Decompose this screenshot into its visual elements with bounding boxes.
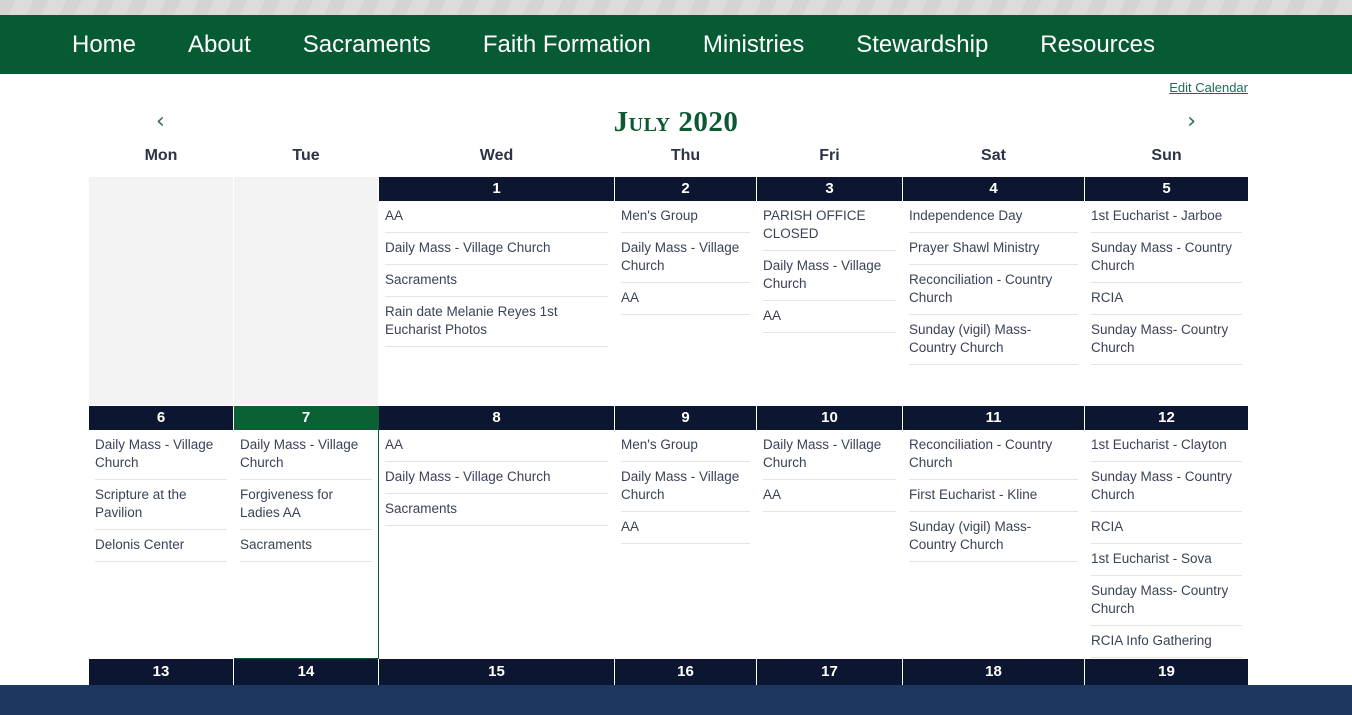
day-number: 17 <box>757 659 902 685</box>
calendar-event[interactable]: Sunday Mass- Country Church <box>1091 315 1242 365</box>
calendar-week-row: 1AADaily Mass - Village ChurchSacraments… <box>89 177 1249 406</box>
calendar-event[interactable]: Daily Mass - Village Church <box>240 430 372 480</box>
day-cell[interactable]: 4Independence DayPrayer Shawl MinistryRe… <box>903 177 1085 406</box>
day-cell[interactable]: 9Men's GroupDaily Mass - Village ChurchA… <box>615 406 757 659</box>
calendar-event[interactable]: Reconciliation - Country Church <box>909 265 1078 315</box>
calendar-event[interactable]: Sunday Mass- Country Church <box>1091 576 1242 626</box>
day-cell[interactable]: 16 <box>615 659 757 686</box>
day-cell-empty <box>234 177 379 406</box>
day-number: 6 <box>89 406 233 430</box>
next-month-icon[interactable]: › <box>1187 100 1196 144</box>
calendar-event[interactable]: 1st Eucharist - Clayton <box>1091 430 1242 462</box>
weekday-header-sat: Sat <box>903 144 1085 177</box>
calendar-event[interactable]: Daily Mass - Village Church <box>763 430 896 480</box>
calendar-event[interactable]: AA <box>385 201 608 233</box>
day-number: 10 <box>757 406 902 430</box>
day-number: 9 <box>615 406 756 430</box>
weekday-header-tue: Tue <box>234 144 379 177</box>
weekday-header-row: MonTueWedThuFriSatSun <box>89 144 1249 177</box>
edit-calendar-row: Edit Calendar <box>0 74 1352 100</box>
day-cell[interactable]: 2Men's GroupDaily Mass - Village ChurchA… <box>615 177 757 406</box>
day-number: 15 <box>379 659 614 685</box>
day-number: 2 <box>615 177 756 201</box>
calendar-title-bar: ‹ July 2020 › <box>88 100 1264 144</box>
calendar-month-title: July 2020 <box>88 100 1264 144</box>
day-events-list: Men's GroupDaily Mass - Village ChurchAA <box>615 430 756 544</box>
day-events-list: Reconciliation - Country ChurchFirst Euc… <box>903 430 1084 562</box>
calendar-event[interactable]: Scripture at the Pavilion <box>95 480 227 530</box>
day-cell[interactable]: 10Daily Mass - Village ChurchAA <box>757 406 903 659</box>
day-cell[interactable]: 51st Eucharist - JarboeSunday Mass - Cou… <box>1085 177 1249 406</box>
day-cell[interactable]: 1AADaily Mass - Village ChurchSacraments… <box>379 177 615 406</box>
day-number: 16 <box>615 659 756 685</box>
calendar-event[interactable]: Rain date Melanie Reyes 1st Eucharist Ph… <box>385 297 608 347</box>
page-footer <box>0 685 1352 715</box>
nav-item-home[interactable]: Home <box>72 33 136 57</box>
day-number: 1 <box>379 177 614 201</box>
day-cell[interactable]: 17 <box>757 659 903 686</box>
day-number: 5 <box>1085 177 1248 201</box>
day-number: 14 <box>234 659 378 685</box>
nav-item-faith-formation[interactable]: Faith Formation <box>483 33 651 57</box>
day-events-list: 1st Eucharist - JarboeSunday Mass - Coun… <box>1085 201 1248 365</box>
calendar-event[interactable]: AA <box>385 430 608 462</box>
calendar-event[interactable]: Sunday Mass - Country Church <box>1091 233 1242 283</box>
calendar-event[interactable]: Daily Mass - Village Church <box>763 251 896 301</box>
calendar-event[interactable]: Sunday Mass - Country Church <box>1091 462 1242 512</box>
calendar-event[interactable]: Daily Mass - Village Church <box>95 430 227 480</box>
day-events-list: AADaily Mass - Village ChurchSacramentsR… <box>379 201 614 347</box>
calendar-event[interactable]: Independence Day <box>909 201 1078 233</box>
previous-month-icon[interactable]: ‹ <box>156 100 165 144</box>
calendar-event[interactable]: Daily Mass - Village Church <box>621 233 750 283</box>
day-events-list: 1st Eucharist - ClaytonSunday Mass - Cou… <box>1085 430 1248 658</box>
calendar-event[interactable]: Sacraments <box>240 530 372 562</box>
nav-item-about[interactable]: About <box>188 33 251 57</box>
day-events-list: AADaily Mass - Village ChurchSacraments <box>379 430 614 526</box>
day-cell[interactable]: 13 <box>89 659 234 686</box>
calendar-event[interactable]: First Eucharist - Kline <box>909 480 1078 512</box>
main-navigation: HomeAboutSacramentsFaith FormationMinist… <box>0 15 1352 74</box>
calendar-event[interactable]: AA <box>621 283 750 315</box>
calendar-event[interactable]: Men's Group <box>621 430 750 462</box>
day-number: 18 <box>903 659 1084 685</box>
day-cell[interactable]: 14 <box>234 659 379 686</box>
weekday-header-sun: Sun <box>1085 144 1249 177</box>
calendar-event[interactable]: PARISH OFFICE CLOSED <box>763 201 896 251</box>
day-number: 12 <box>1085 406 1248 430</box>
day-cell[interactable]: 11Reconciliation - Country ChurchFirst E… <box>903 406 1085 659</box>
nav-item-resources[interactable]: Resources <box>1040 33 1155 57</box>
day-number: 11 <box>903 406 1084 430</box>
calendar-event[interactable]: RCIA <box>1091 283 1242 315</box>
day-events-list: PARISH OFFICE CLOSEDDaily Mass - Village… <box>757 201 902 333</box>
nav-item-ministries[interactable]: Ministries <box>703 33 804 57</box>
day-number: 7 <box>234 406 378 430</box>
calendar-event[interactable]: RCIA <box>1091 512 1242 544</box>
calendar-event[interactable]: Daily Mass - Village Church <box>621 462 750 512</box>
calendar-event[interactable]: 1st Eucharist - Jarboe <box>1091 201 1242 233</box>
edit-calendar-link[interactable]: Edit Calendar <box>1169 80 1248 95</box>
nav-item-stewardship[interactable]: Stewardship <box>856 33 988 57</box>
day-events-list: Daily Mass - Village ChurchForgiveness f… <box>234 430 378 562</box>
day-number: 19 <box>1085 659 1248 685</box>
day-cell[interactable]: 18 <box>903 659 1085 686</box>
day-cell[interactable]: 6Daily Mass - Village ChurchScripture at… <box>89 406 234 659</box>
calendar-event[interactable]: AA <box>621 512 750 544</box>
calendar-event[interactable]: Sunday (vigil) Mass-Country Church <box>909 315 1078 365</box>
calendar-week-row: 13141516171819 <box>89 659 1249 686</box>
day-cell[interactable]: 3PARISH OFFICE CLOSEDDaily Mass - Villag… <box>757 177 903 406</box>
day-cell[interactable]: 15 <box>379 659 615 686</box>
calendar-event[interactable]: Reconciliation - Country Church <box>909 430 1078 480</box>
day-number: 8 <box>379 406 614 430</box>
calendar-container: ‹ July 2020 › MonTueWedThuFriSatSun 1AAD… <box>0 100 1352 685</box>
calendar-event[interactable]: Sacraments <box>385 265 608 297</box>
decorative-top-strip <box>0 0 1352 15</box>
day-number: 3 <box>757 177 902 201</box>
weekday-header-wed: Wed <box>379 144 615 177</box>
calendar-event[interactable]: RCIA Info Gathering <box>1091 626 1242 658</box>
day-cell[interactable]: 19 <box>1085 659 1249 686</box>
calendar-event[interactable]: 1st Eucharist - Sova <box>1091 544 1242 576</box>
calendar-event[interactable]: Sunday (vigil) Mass-Country Church <box>909 512 1078 562</box>
calendar-event[interactable]: AA <box>763 480 896 512</box>
day-number: 13 <box>89 659 233 685</box>
calendar-grid: MonTueWedThuFriSatSun 1AADaily Mass - Vi… <box>88 144 1249 685</box>
calendar-event[interactable]: Daily Mass - Village Church <box>385 233 608 265</box>
day-cell-empty <box>89 177 234 406</box>
calendar-week-row: 6Daily Mass - Village ChurchScripture at… <box>89 406 1249 659</box>
day-events-list: Men's GroupDaily Mass - Village ChurchAA <box>615 201 756 315</box>
weekday-header-thu: Thu <box>615 144 757 177</box>
nav-item-sacraments[interactable]: Sacraments <box>303 33 431 57</box>
calendar-event[interactable]: Forgiveness for Ladies AA <box>240 480 372 530</box>
calendar-event[interactable]: Prayer Shawl Ministry <box>909 233 1078 265</box>
calendar-event[interactable]: Delonis Center <box>95 530 227 562</box>
day-cell[interactable]: 121st Eucharist - ClaytonSunday Mass - C… <box>1085 406 1249 659</box>
day-cell[interactable]: 8AADaily Mass - Village ChurchSacraments <box>379 406 615 659</box>
day-cell[interactable]: 7Daily Mass - Village ChurchForgiveness … <box>234 406 379 659</box>
day-events-list: Daily Mass - Village ChurchScripture at … <box>89 430 233 562</box>
calendar-event[interactable]: Daily Mass - Village Church <box>385 462 608 494</box>
calendar-event[interactable]: AA <box>763 301 896 333</box>
day-number: 4 <box>903 177 1084 201</box>
weekday-header-mon: Mon <box>89 144 234 177</box>
calendar-event[interactable]: Men's Group <box>621 201 750 233</box>
day-events-list: Independence DayPrayer Shawl MinistryRec… <box>903 201 1084 365</box>
weekday-header-fri: Fri <box>757 144 903 177</box>
calendar-event[interactable]: Sacraments <box>385 494 608 526</box>
day-events-list: Daily Mass - Village ChurchAA <box>757 430 902 512</box>
